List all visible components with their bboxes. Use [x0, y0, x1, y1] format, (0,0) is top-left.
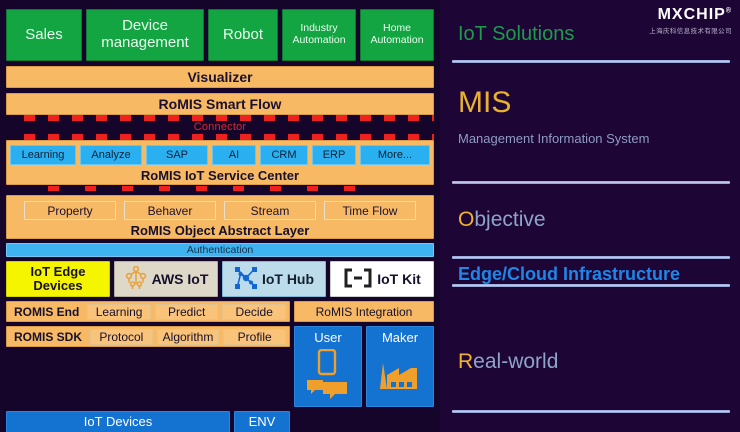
solution-card-label: Sales	[25, 27, 63, 44]
solution-card-label: Robot	[223, 27, 263, 44]
devices-and-env-row: IoT Devices \liOS Amazon FreeRT	[6, 411, 434, 432]
service-center-title: RoMIS IoT Service Center	[10, 168, 430, 183]
legend-separator-5	[452, 410, 730, 413]
iot-edge-devices-label: IoT Edge Devices	[7, 265, 109, 294]
service-chip-crm[interactable]: CRM	[260, 145, 308, 165]
legend-objective-initial: O	[458, 208, 474, 231]
legend-iot-solutions: IoT Solutions	[458, 23, 574, 46]
phone-and-chat-icon	[305, 349, 351, 404]
romis-sdk-chip-algorithm[interactable]: Algorithm	[157, 329, 220, 345]
abstract-chip-time-flow[interactable]: Time Flow	[324, 201, 416, 220]
service-chip-ai[interactable]: AI	[212, 145, 256, 165]
service-chip-analyze[interactable]: Analyze	[80, 145, 142, 165]
dash-mark	[288, 115, 299, 121]
legend-separator-4	[452, 284, 730, 287]
integration-and-people: RoMIS Integration User	[294, 301, 434, 407]
people-group-row: User Maker	[294, 326, 434, 407]
romis-and-people-split: ROMIS End Learning Predict Decide ROMIS …	[6, 301, 434, 407]
iot-edge-devices-card[interactable]: IoT Edge Devices	[6, 261, 110, 297]
dash-mark	[168, 115, 179, 121]
dash-mark	[159, 186, 170, 191]
legend-real-world-rest: eal-world	[473, 350, 558, 373]
romis-sdk-chip-protocol[interactable]: Protocol	[90, 329, 153, 345]
legend-mis-full: Management Information System	[458, 131, 649, 146]
legend-mis-acronym: MIS	[458, 86, 511, 120]
mxchip-wordmark: MXCHIP®	[649, 6, 732, 24]
dash-mark	[233, 186, 244, 191]
dash-mark	[120, 115, 131, 121]
romis-end-row: ROMIS End Learning Predict Decide	[6, 301, 290, 322]
dash-mark	[85, 186, 96, 191]
romis-sdk-chip-profile[interactable]: Profile	[223, 329, 286, 345]
aws-iot-card[interactable]: AWS IoT	[114, 261, 218, 297]
romis-end-chip-decide[interactable]: Decide	[222, 304, 286, 320]
dash-mark	[24, 115, 35, 121]
service-chip-more[interactable]: More...	[360, 145, 430, 165]
iot-kit-icon	[343, 268, 373, 291]
legend-edge-cloud: Edge/Cloud Infrastructure	[458, 264, 680, 285]
solution-card-sales[interactable]: Sales	[6, 9, 82, 61]
service-chip-erp[interactable]: ERP	[312, 145, 356, 165]
visualizer-bar[interactable]: Visualizer	[6, 66, 434, 88]
mxchip-subtitle: 上海庆科信息技术有限公司	[649, 25, 732, 35]
solution-card-home-automation[interactable]: Home Automation	[360, 9, 434, 61]
abstract-dash-strip	[6, 186, 434, 191]
maker-label: Maker	[382, 330, 418, 345]
legend-panel: MXCHIP® 上海庆科信息技术有限公司 IoT Solutions MIS M…	[440, 0, 740, 432]
iot-kit-label: IoT Kit	[377, 271, 421, 287]
abstract-chip-behaver[interactable]: Behaver	[124, 201, 216, 220]
legend-real-world: Real-world	[458, 350, 558, 374]
solution-card-robot[interactable]: Robot	[208, 9, 278, 61]
romis-end-chip-predict[interactable]: Predict	[155, 304, 219, 320]
dash-mark	[408, 115, 419, 121]
dash-mark	[96, 115, 107, 121]
user-card[interactable]: User	[294, 326, 362, 407]
romis-sdk-label: ROMIS SDK	[10, 330, 86, 344]
dash-mark	[196, 186, 207, 191]
service-chips-row: Learning Analyze SAP AI CRM ERP More...	[10, 145, 430, 165]
legend-separator-1	[452, 60, 730, 63]
dash-mark	[144, 115, 155, 121]
abstract-layer-title: RoMIS Object Abstract Layer	[10, 223, 430, 238]
solution-card-label: Home Automation	[361, 23, 433, 47]
romis-end-label: ROMIS End	[10, 305, 83, 319]
iot-devices-card[interactable]: IoT Devices \liOS Amazon FreeRT	[6, 411, 230, 432]
user-label: User	[314, 330, 341, 345]
romis-sdk-row: ROMIS SDK Protocol Algorithm Profile	[6, 326, 290, 347]
dash-mark	[122, 186, 133, 191]
env-label: ENV	[249, 414, 276, 429]
solutions-row: Sales Device management Robot Industry A…	[6, 9, 434, 61]
legend-objective: Objective	[458, 208, 546, 232]
dash-mark	[264, 115, 275, 121]
env-card[interactable]: ENV	[234, 411, 290, 432]
romis-end-chip-learning[interactable]: Learning	[87, 304, 151, 320]
factory-icon	[377, 349, 423, 404]
dash-mark	[72, 115, 83, 121]
legend-real-world-initial: R	[458, 350, 473, 373]
solution-card-label: Industry Automation	[283, 23, 355, 47]
romis-smart-flow-bar[interactable]: RoMIS Smart Flow	[6, 93, 434, 115]
romis-rows: ROMIS End Learning Predict Decide ROMIS …	[6, 301, 290, 407]
romis-object-abstract-layer-block: Property Behaver Stream Time Flow RoMIS …	[6, 195, 434, 239]
mxchip-logo: MXCHIP® 上海庆科信息技术有限公司	[649, 6, 732, 35]
iot-devices-title: IoT Devices	[84, 414, 152, 429]
dash-mark	[360, 115, 371, 121]
abstract-chip-property[interactable]: Property	[24, 201, 116, 220]
dash-mark	[384, 115, 395, 121]
legend-separator-3	[452, 256, 730, 259]
service-chip-learning[interactable]: Learning	[10, 145, 76, 165]
dash-mark	[344, 186, 355, 191]
registered-mark: ®	[726, 8, 732, 15]
dash-mark	[48, 186, 59, 191]
mxchip-name: MXCHIP	[658, 6, 726, 23]
abstract-chips-row: Property Behaver Stream Time Flow	[10, 201, 430, 220]
legend-separator-2	[452, 181, 730, 184]
iot-hub-card[interactable]: IoT Hub	[222, 261, 326, 297]
solution-card-device-management[interactable]: Device management	[86, 9, 204, 61]
iot-hub-label: IoT Hub	[262, 271, 314, 287]
maker-card[interactable]: Maker	[366, 326, 434, 407]
dash-mark	[307, 186, 318, 191]
slide-root: Sales Device management Robot Industry A…	[0, 0, 740, 432]
dash-mark	[48, 115, 59, 121]
dash-mark	[312, 115, 323, 121]
authentication-bar[interactable]: Authentication	[6, 243, 434, 257]
abstract-chip-stream[interactable]: Stream	[224, 201, 316, 220]
aws-iot-icon	[124, 265, 148, 294]
dash-mark	[336, 115, 347, 121]
cloud-providers-row: IoT Edge Devices AWS IoT	[6, 261, 434, 297]
connector-label: Connector	[6, 121, 434, 134]
dash-mark	[432, 115, 434, 121]
azure-iot-hub-icon	[234, 266, 258, 293]
dash-mark	[270, 186, 281, 191]
romis-iot-service-center-block: Learning Analyze SAP AI CRM ERP More... …	[6, 140, 434, 185]
solution-card-industry-automation[interactable]: Industry Automation	[282, 9, 356, 61]
architecture-diagram-panel: Sales Device management Robot Industry A…	[0, 0, 440, 432]
legend-objective-rest: bjective	[474, 208, 545, 231]
aws-iot-label: AWS IoT	[152, 271, 209, 287]
service-chip-sap[interactable]: SAP	[146, 145, 208, 165]
iot-kit-card[interactable]: IoT Kit	[330, 261, 434, 297]
solution-card-label: Device management	[87, 18, 203, 52]
romis-integration-card[interactable]: RoMIS Integration	[294, 301, 434, 322]
